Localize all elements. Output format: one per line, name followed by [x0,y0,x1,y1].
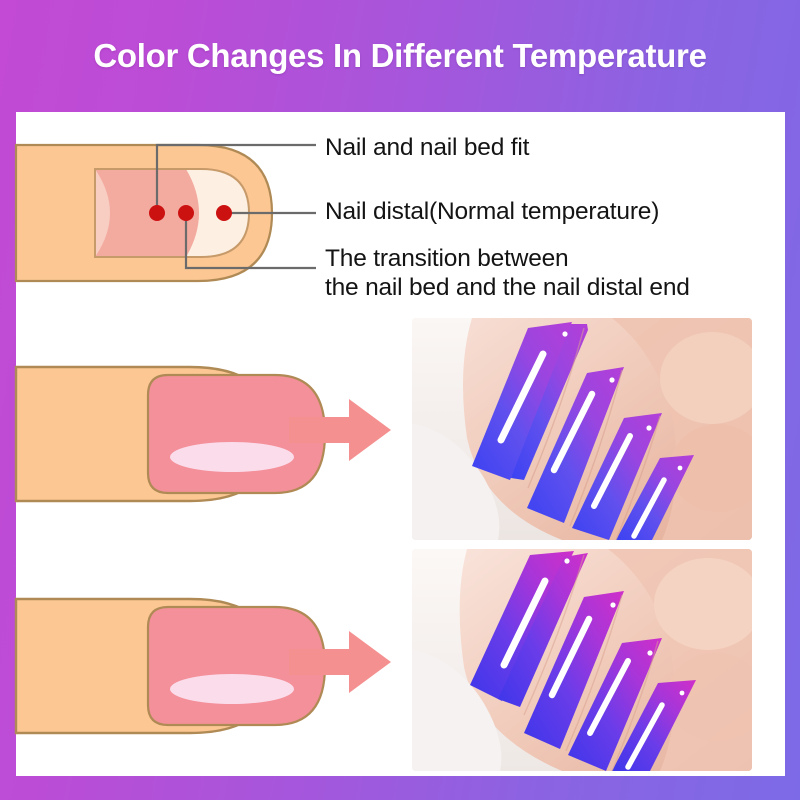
annotation-nail-distal: Nail distal(Normal temperature) [325,197,659,226]
annotation-transition: The transition between the nail bed and … [325,244,690,302]
infographic-root: Color Changes In Different Temperature [0,0,800,800]
annotation-transition-line2: the nail bed and the nail distal end [325,273,690,302]
photo-magenta-blue-nails [412,549,752,771]
nail-highlight-mid [170,442,294,472]
diagram-warm-finger-lower [16,599,325,733]
nail-highlight-bot [170,674,294,704]
marker-nail-distal [216,205,232,221]
marker-transition [178,205,194,221]
title-band: Color Changes In Different Temperature [0,0,800,112]
photo-purple-blue-nails [412,318,752,540]
annotation-transition-line1: The transition between [325,245,568,272]
diagram-warm-finger-upper [16,367,325,501]
page-title: Color Changes In Different Temperature [93,37,706,75]
content-card: Nail and nail bed fit Nail distal(Normal… [16,112,785,776]
marker-nail-bed-fit [149,205,165,221]
diagram-normal-temperature [16,145,316,281]
annotation-nail-bed-fit: Nail and nail bed fit [325,133,529,162]
